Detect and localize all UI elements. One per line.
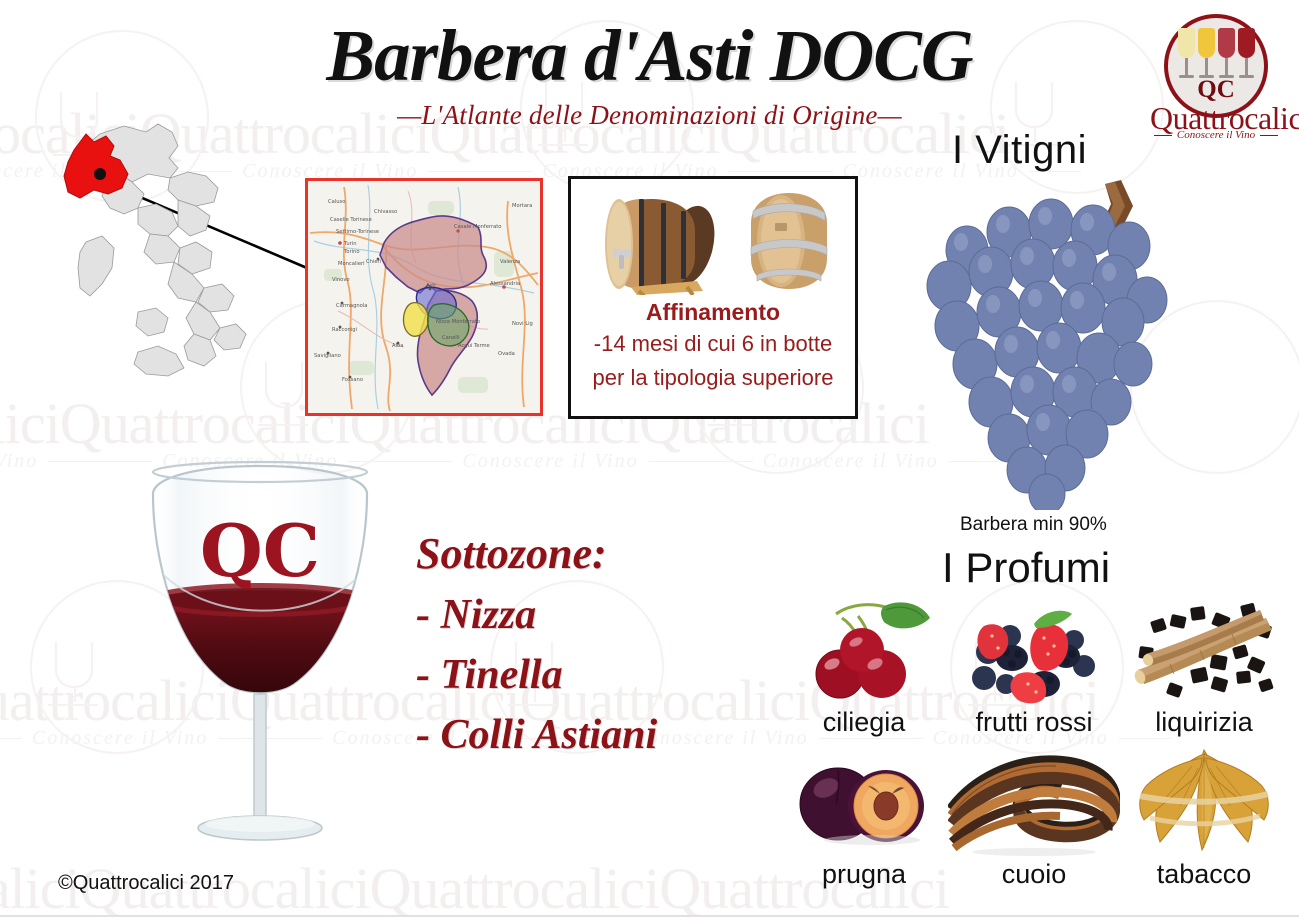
copyright-text: ©Quattrocalici 2017 [58, 872, 234, 895]
italy-map [28, 112, 280, 380]
svg-text:Nizza Monferrato: Nizza Monferrato [436, 319, 480, 325]
aroma-grid: ciliegia [780, 592, 1290, 912]
page-subtitle: —L'Atlante delle Denominazioni di Origin… [0, 100, 1299, 131]
svg-text:Carmagnola: Carmagnola [336, 303, 367, 309]
aroma-item-prugna[interactable]: prugna [780, 744, 948, 896]
svg-text:Ovada: Ovada [498, 351, 515, 357]
watermark-tagline: Conoscere il Vino [0, 450, 100, 473]
aroma-item-liquirizia[interactable]: liquirizia [1120, 592, 1288, 744]
wine-glass-icon [55, 642, 93, 688]
liquorice-image [1120, 592, 1288, 704]
svg-text:Savigliano: Savigliano [314, 353, 341, 359]
grape-composition: Barbera min 90% [960, 514, 1107, 536]
svg-text:Valenza: Valenza [500, 259, 520, 265]
wine-glass-icon [55, 642, 93, 688]
svg-text:Chieri: Chieri [366, 259, 381, 265]
barrels-image [571, 185, 855, 295]
aroma-item-frutti-rossi[interactable]: frutti rossi [948, 592, 1120, 744]
svg-text:Settimo-Torinese: Settimo-Torinese [336, 229, 379, 235]
sottozone-item: - Nizza [416, 591, 657, 639]
wine-glass-image: QC [135, 448, 385, 868]
zone-tinella [403, 303, 428, 337]
quattrocalici-logo[interactable]: QC Quattrocalici Conoscere il Vino [1150, 14, 1282, 142]
svg-text:Asti: Asti [426, 283, 436, 289]
aroma-label: cuoio [948, 859, 1120, 890]
logo-tagline: Conoscere il Vino [1150, 129, 1282, 141]
tobacco-image [1120, 744, 1288, 856]
plum-image [780, 744, 948, 856]
sottozone-item: - Colli Astiani [416, 711, 657, 759]
svg-text:Vinovo: Vinovo [332, 277, 350, 283]
location-marker [94, 168, 106, 180]
svg-text:Moncalieri: Moncalieri [338, 261, 365, 267]
affinamento-line-2: per la tipologia superiore [571, 365, 855, 391]
aroma-label: liquirizia [1120, 707, 1288, 738]
leather-image [948, 744, 1120, 856]
svg-text:Turin: Turin [343, 241, 357, 247]
svg-text:Fossano: Fossano [342, 377, 363, 383]
glass-monogram: QC [200, 508, 320, 593]
aroma-label: frutti rossi [948, 707, 1120, 738]
svg-text:Mortara: Mortara [512, 203, 532, 209]
aroma-label: prugna [780, 859, 948, 890]
sottozone-heading: Sottozone: [416, 528, 657, 579]
svg-text:Caluso: Caluso [328, 199, 345, 205]
aroma-item-ciliegia[interactable]: ciliegia [780, 592, 948, 744]
affinamento-line-1: -14 mesi di cui 6 in botte [571, 331, 855, 357]
aroma-label: tabacco [1120, 859, 1288, 890]
svg-text:Novi Lig: Novi Lig [512, 321, 533, 327]
watermark-tagline: Conoscere il Vino [400, 450, 700, 473]
svg-text:Caselle Torinese: Caselle Torinese [330, 217, 372, 223]
page-title: Barbera d'Asti DOCG [0, 14, 1299, 98]
svg-text:Alba: Alba [392, 343, 403, 349]
sottozone-block: Sottozone: - Nizza - Tinella - Colli Ast… [416, 528, 657, 759]
wine-glass-icon [55, 642, 93, 688]
aroma-item-tabacco[interactable]: tabacco [1120, 744, 1288, 896]
cherry-image [780, 592, 948, 704]
affinamento-panel: Affinamento -14 mesi di cui 6 in botte p… [568, 176, 858, 419]
vitigni-heading: I Vitigni [952, 128, 1087, 173]
svg-text:Canelli: Canelli [442, 335, 460, 341]
watermark-word: Quattrocalici [370, 860, 660, 917]
svg-text:Alessandria: Alessandria [490, 281, 520, 287]
sottozone-item: - Tinella [416, 651, 657, 699]
aroma-label: ciliegia [780, 707, 948, 738]
svg-text:Torino: Torino [343, 249, 360, 255]
svg-text:Acqui Terme: Acqui Terme [458, 343, 490, 349]
svg-text:Casale Monferrato: Casale Monferrato [454, 224, 501, 230]
watermark-word: Quattrocalici [0, 395, 60, 453]
infographic-page: Quattrocalici Quattrocalici Quattrocalic… [0, 0, 1299, 917]
appellation-detail-map[interactable]: Turin Torino Casale Monferrato Alessandr… [305, 178, 543, 416]
red-berries-image [948, 592, 1120, 704]
profumi-heading: I Profumi [942, 544, 1110, 592]
svg-text:Chivasso: Chivasso [374, 209, 397, 215]
wine-glass-icon [55, 642, 93, 688]
affinamento-title: Affinamento [571, 299, 855, 326]
svg-text:Racconigi: Racconigi [332, 327, 357, 333]
grape-cluster-image [905, 180, 1205, 510]
aroma-item-cuoio[interactable]: cuoio [948, 744, 1120, 896]
